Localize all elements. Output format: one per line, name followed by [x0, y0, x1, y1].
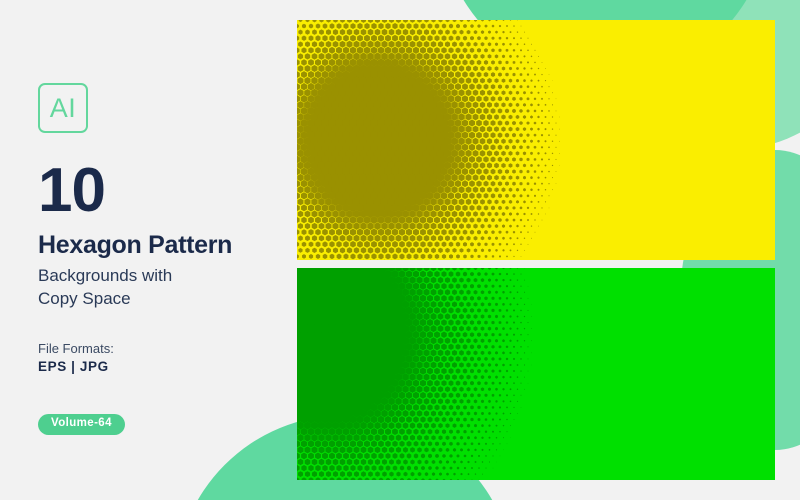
page-title: Hexagon Pattern [38, 232, 232, 260]
preview-yellow-hexagon-pattern [297, 20, 775, 260]
poster-canvas: AI 10 Hexagon Pattern Backgrounds with C… [0, 0, 800, 500]
subtitle-line-2: Copy Space [38, 288, 131, 309]
ai-format-badge: AI [38, 83, 88, 133]
info-column: AI 10 Hexagon Pattern Backgrounds with C… [38, 0, 288, 500]
item-count: 10 [38, 160, 105, 222]
subtitle-line-1: Backgrounds with [38, 265, 172, 286]
ai-badge-label: AI [50, 95, 77, 122]
file-formats-label: File Formats: [38, 341, 114, 356]
yellow-halftone-artwork [297, 20, 775, 260]
file-formats-value: EPS | JPG [38, 359, 109, 374]
green-halftone-artwork [297, 268, 775, 480]
preview-green-hexagon-pattern [297, 268, 775, 480]
volume-badge: Volume-64 [38, 414, 125, 435]
